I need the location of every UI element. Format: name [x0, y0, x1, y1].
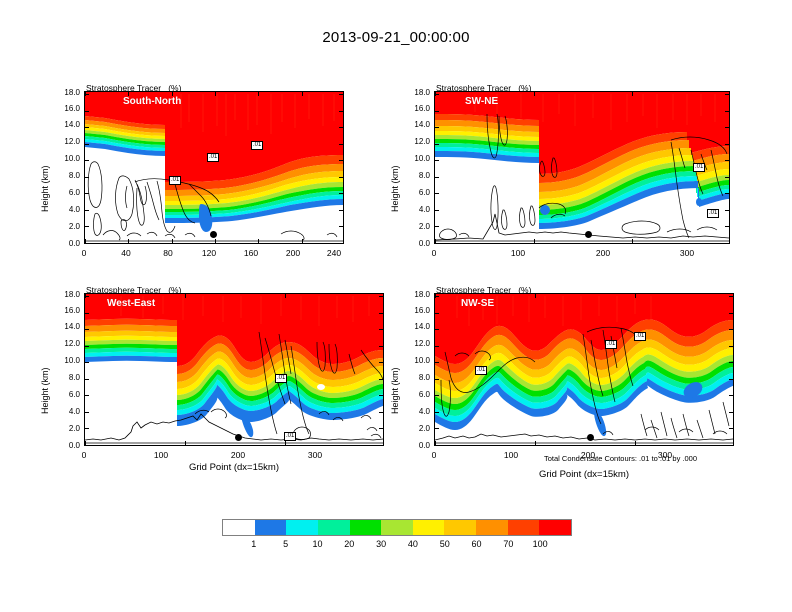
- axis-tickmark: [339, 160, 343, 161]
- axis-tickmark: [302, 239, 303, 243]
- tracer-fill-bands: [85, 92, 343, 232]
- axis-tickmark: [435, 160, 439, 161]
- colorbar-tick: 50: [440, 539, 450, 549]
- colorbar-tick: 10: [312, 539, 322, 549]
- axis-tickmark: [379, 362, 383, 363]
- colorbar-tick: 60: [472, 539, 482, 549]
- contour-label: .01: [707, 209, 719, 218]
- colorbar-tick: 5: [283, 539, 288, 549]
- axis-tickmark: [379, 395, 383, 396]
- panel-label-nw-se: NW-SE: [461, 298, 494, 309]
- axis-tickmark: [635, 294, 636, 298]
- tracer-fill-bands: [435, 92, 729, 229]
- axis-tickmark: [285, 441, 286, 445]
- axis-tickmark: [729, 329, 733, 330]
- axis-tickmark: [729, 395, 733, 396]
- axis-tickmark: [729, 412, 733, 413]
- contour-label: .01: [251, 141, 263, 150]
- axis-tickmark: [535, 294, 536, 298]
- location-marker: [210, 231, 217, 238]
- colorbar-tick: 100: [533, 539, 548, 549]
- colorbar-segment: [350, 520, 382, 535]
- axis-tickmark: [343, 239, 344, 243]
- axis-tickmark: [85, 362, 89, 363]
- axis-tickmark: [435, 395, 439, 396]
- page-title: 2013-09-21_00:00:00: [0, 29, 792, 46]
- axis-tickmark: [534, 92, 535, 96]
- colorbar-tick: 1: [251, 539, 256, 549]
- axis-tickmark: [635, 441, 636, 445]
- axis-tickmark: [435, 412, 439, 413]
- axis-tickmark: [725, 160, 729, 161]
- axis-tickmark: [729, 346, 733, 347]
- axis-tickmark: [435, 210, 439, 211]
- axis-tickmark: [379, 412, 383, 413]
- axis-tickmark: [435, 313, 439, 314]
- xaxis-label: Grid Point (dx=15km): [164, 462, 304, 473]
- yaxis-label: Height (km): [40, 165, 50, 212]
- axis-tickmark: [534, 239, 535, 243]
- axis-tickmark: [725, 177, 729, 178]
- axis-tickmark: [285, 294, 286, 298]
- axis-tickmark: [302, 92, 303, 96]
- axis-tickmark: [733, 441, 734, 445]
- axis-tickmark: [725, 226, 729, 227]
- colorbar-segment: [381, 520, 413, 535]
- axis-tickmark: [435, 111, 439, 112]
- axis-tickmark: [339, 193, 343, 194]
- contour-plot-south-north: [85, 92, 343, 243]
- axis-tickmark: [85, 395, 89, 396]
- axis-tickmark: [729, 428, 733, 429]
- axis-tickmark: [339, 127, 343, 128]
- colorbar-segment: [508, 520, 540, 535]
- axis-tickmark: [85, 160, 89, 161]
- axis-tickmark: [725, 243, 729, 244]
- contour-label: .01: [605, 340, 617, 349]
- axis-tickmark: [379, 379, 383, 380]
- axis-tickmark: [215, 239, 216, 243]
- axis-tickmark: [632, 239, 633, 243]
- axis-tickmark: [729, 362, 733, 363]
- plot-area-nw-se: NW-SE .01 .01 .01: [434, 293, 734, 446]
- axis-tickmark: [339, 210, 343, 211]
- axis-tickmark: [85, 346, 89, 347]
- axis-tickmark: [215, 92, 216, 96]
- axis-tickmark: [435, 144, 439, 145]
- axis-tickmark: [535, 441, 536, 445]
- colorbar-tick: 20: [344, 539, 354, 549]
- location-marker: [235, 434, 242, 441]
- axis-tickmark: [85, 445, 89, 446]
- axis-tickmark: [435, 226, 439, 227]
- axis-tickmark: [85, 294, 86, 298]
- axis-tickmark: [339, 177, 343, 178]
- colorbar-segment: [539, 520, 571, 535]
- axis-tickmark: [85, 177, 89, 178]
- axis-tickmark: [339, 111, 343, 112]
- axis-tickmark: [85, 127, 89, 128]
- axis-tickmark: [729, 445, 733, 446]
- axis-tickmark: [85, 379, 89, 380]
- colorbar-segment: [223, 520, 255, 535]
- axis-tickmark: [435, 362, 439, 363]
- panel-label-west-east: West-East: [107, 298, 155, 309]
- yaxis-label: Height (km): [390, 165, 400, 212]
- axis-tickmark: [128, 239, 129, 243]
- figure-canvas: 2013-09-21_00:00:00 Stratosphere Tracer …: [0, 0, 792, 612]
- axis-tickmark: [435, 239, 436, 243]
- colorbar-segment: [444, 520, 476, 535]
- axis-tickmark: [85, 313, 89, 314]
- axis-tickmark: [85, 111, 89, 112]
- colorbar-segment: [413, 520, 445, 535]
- axis-tickmark: [729, 92, 730, 96]
- contour-label: .01: [284, 432, 296, 441]
- axis-tickmark: [85, 329, 89, 330]
- plot-area-south-north: South-North .01 .01 .01: [84, 91, 344, 244]
- axis-tickmark: [383, 441, 384, 445]
- location-marker: [585, 231, 592, 238]
- colorbar-segment: [286, 520, 318, 535]
- colorbar-tick: 30: [376, 539, 386, 549]
- axis-tickmark: [339, 144, 343, 145]
- contour-label: .01: [207, 153, 219, 162]
- axis-tickmark: [632, 92, 633, 96]
- axis-tickmark: [172, 239, 173, 243]
- contour-plot-sw-ne: [435, 92, 729, 243]
- plot-area-sw-ne: SW-NE .01 .01: [434, 91, 730, 244]
- axis-tickmark: [185, 441, 186, 445]
- axis-tickmark: [258, 239, 259, 243]
- axis-tickmark: [85, 441, 86, 445]
- axis-tickmark: [85, 92, 86, 96]
- tracer-fill-bands: [85, 294, 383, 437]
- axis-tickmark: [435, 441, 436, 445]
- axis-tickmark: [435, 92, 436, 96]
- axis-tickmark: [379, 346, 383, 347]
- axis-tickmark: [85, 210, 89, 211]
- location-marker: [587, 434, 594, 441]
- colorbar: [222, 519, 572, 536]
- axis-tickmark: [185, 294, 186, 298]
- axis-tickmark: [729, 239, 730, 243]
- axis-tickmark: [725, 127, 729, 128]
- axis-tickmark: [733, 294, 734, 298]
- axis-tickmark: [435, 428, 439, 429]
- axis-tickmark: [435, 346, 439, 347]
- axis-tickmark: [85, 193, 89, 194]
- axis-tickmark: [379, 329, 383, 330]
- axis-tickmark: [725, 144, 729, 145]
- contour-note: Total Condensate Contours: .01 to .01 by…: [544, 454, 697, 463]
- yaxis-label: Height (km): [390, 367, 400, 414]
- colorbar-segment: [476, 520, 508, 535]
- contour-label: .01: [634, 332, 646, 341]
- axis-tickmark: [725, 193, 729, 194]
- contour-label: .01: [169, 176, 181, 185]
- axis-tickmark: [729, 379, 733, 380]
- axis-tickmark: [435, 127, 439, 128]
- panel-label-south-north: South-North: [123, 96, 181, 107]
- axis-tickmark: [85, 144, 89, 145]
- axis-tickmark: [379, 313, 383, 314]
- axis-tickmark: [435, 294, 436, 298]
- axis-tickmark: [435, 243, 439, 244]
- panel-label-sw-ne: SW-NE: [465, 96, 498, 107]
- axis-tickmark: [729, 313, 733, 314]
- axis-tickmark: [85, 412, 89, 413]
- axis-tickmark: [85, 428, 89, 429]
- axis-tickmark: [435, 329, 439, 330]
- contour-label: .01: [275, 374, 287, 383]
- colorbar-segment: [318, 520, 350, 535]
- axis-tickmark: [435, 177, 439, 178]
- colorbar-segment: [255, 520, 287, 535]
- plot-area-west-east: West-East .01 .01: [84, 293, 384, 446]
- xaxis-label: Grid Point (dx=15km): [514, 469, 654, 480]
- contour-label: .01: [693, 163, 705, 172]
- axis-tickmark: [435, 379, 439, 380]
- axis-tickmark: [85, 239, 86, 243]
- axis-tickmark: [379, 428, 383, 429]
- contour-label: .01: [475, 366, 487, 375]
- axis-tickmark: [258, 92, 259, 96]
- axis-tickmark: [725, 111, 729, 112]
- axis-tickmark: [725, 210, 729, 211]
- axis-tickmark: [435, 445, 439, 446]
- axis-tickmark: [85, 226, 89, 227]
- contour-plot-west-east: [85, 294, 383, 445]
- colorbar-tick: 70: [503, 539, 513, 549]
- colorbar-tick: 40: [408, 539, 418, 549]
- axis-tickmark: [85, 243, 89, 244]
- axis-tickmark: [343, 92, 344, 96]
- axis-tickmark: [339, 243, 343, 244]
- axis-tickmark: [435, 193, 439, 194]
- axis-tickmark: [339, 226, 343, 227]
- axis-tickmark: [383, 294, 384, 298]
- yaxis-label: Height (km): [40, 367, 50, 414]
- axis-tickmark: [379, 445, 383, 446]
- colorbar-tick-labels: 1510203040506070100: [222, 539, 572, 553]
